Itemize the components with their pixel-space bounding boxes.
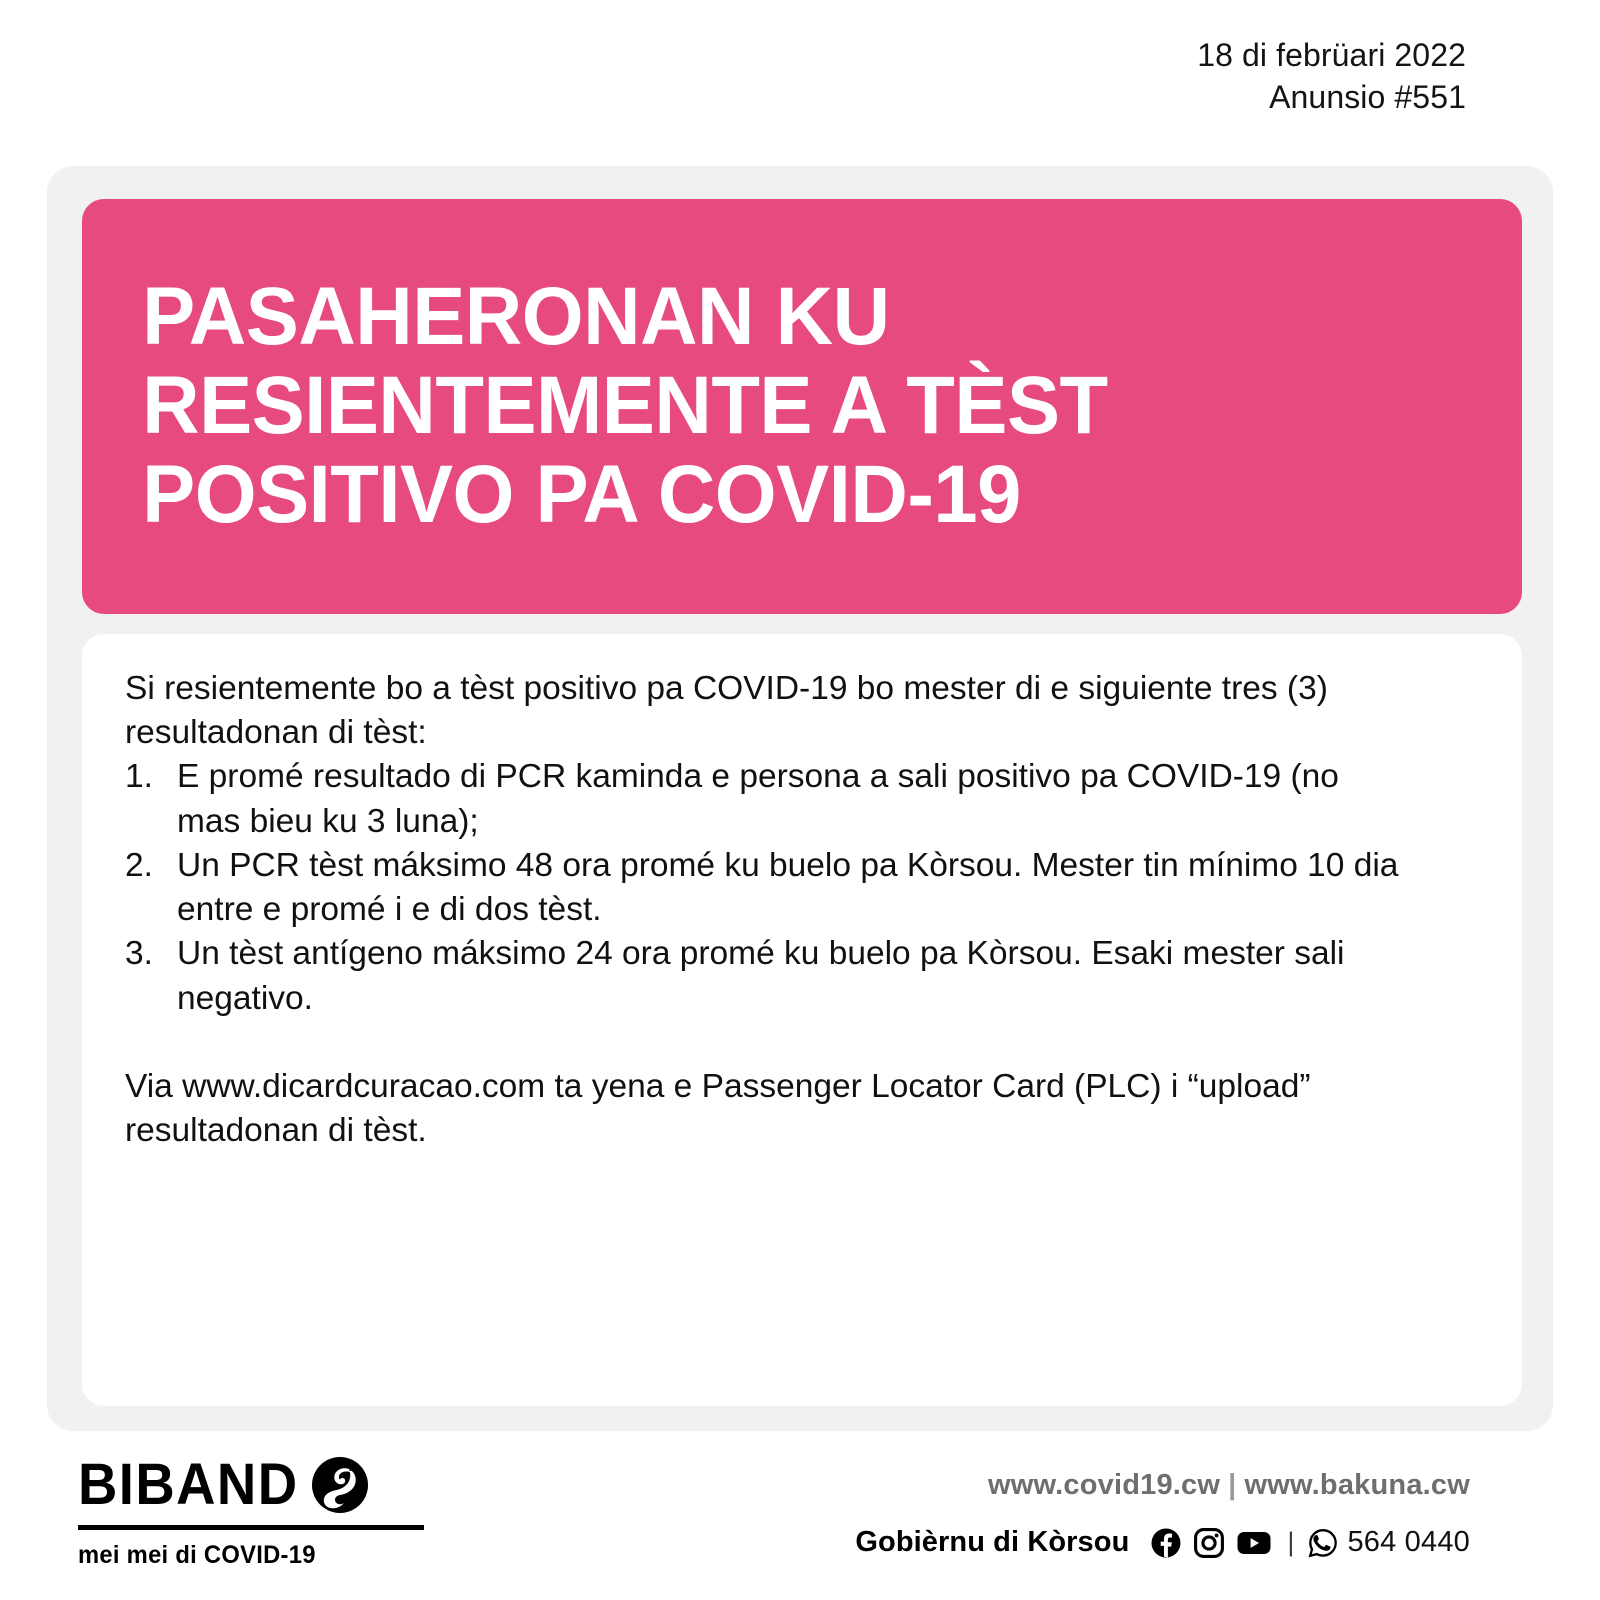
header-meta: 18 di febrüari 2022 Anunsio #551: [1197, 34, 1466, 118]
website-links-row: www.covid19.cw|www.bakuna.cw: [855, 1469, 1470, 1502]
bibando-swirl-icon: [311, 1456, 369, 1514]
closing-paragraph: Via www.dicardcuracao.com ta yena e Pass…: [125, 1065, 1425, 1153]
list-item-number: 3.: [125, 932, 177, 1020]
list-item-number: 2.: [125, 844, 177, 932]
content-panel: Si resientemente bo a tèst positivo pa C…: [82, 634, 1522, 1406]
whatsapp-contact[interactable]: 564 0440: [1308, 1526, 1470, 1559]
social-icons-group: [1151, 1528, 1271, 1558]
list-item-text: Un PCR tèst máksimo 48 ora promé ku buel…: [177, 844, 1407, 932]
publication-date: 18 di febrüari 2022: [1197, 34, 1466, 76]
whatsapp-icon[interactable]: [1308, 1528, 1338, 1558]
logo-divider: [78, 1525, 424, 1530]
page-title: Pasaheronan ku resientemente a tèst posi…: [82, 273, 1479, 540]
list-item: 2. Un PCR tèst máksimo 48 ora promé ku b…: [125, 844, 1472, 932]
youtube-icon[interactable]: [1237, 1530, 1271, 1556]
bibando-logo: BIBAND mei mei di COVID-19: [78, 1455, 458, 1570]
logo-wordmark-row: BIBAND: [78, 1455, 458, 1515]
announcement-number: Anunsio #551: [1197, 76, 1466, 118]
site-separator: |: [1220, 1469, 1244, 1501]
intro-paragraph: Si resientemente bo a tèst positivo pa C…: [125, 667, 1425, 755]
page-footer: BIBAND mei mei di COVID-19 www.covid19.c…: [0, 1455, 1600, 1600]
instagram-icon[interactable]: [1194, 1528, 1224, 1558]
footer-separator: |: [1287, 1527, 1294, 1558]
footer-links-block: www.covid19.cw|www.bakuna.cw Gobièrnu di…: [855, 1469, 1470, 1559]
list-item-text: E promé resultado di PCR kaminda e perso…: [177, 755, 1407, 843]
list-item: 1. E promé resultado di PCR kaminda e pe…: [125, 755, 1472, 843]
covid19-site-link[interactable]: www.covid19.cw: [988, 1469, 1220, 1501]
list-item: 3. Un tèst antígeno máksimo 24 ora promé…: [125, 932, 1472, 1020]
bakuna-site-link[interactable]: www.bakuna.cw: [1244, 1469, 1470, 1501]
government-name: Gobièrnu di Kòrsou: [855, 1526, 1129, 1559]
facebook-icon[interactable]: [1151, 1528, 1181, 1558]
paragraph-spacer: [125, 1021, 1472, 1065]
logo-wordmark: BIBAND: [78, 1456, 298, 1514]
list-item-text: Un tèst antígeno máksimo 24 ora promé ku…: [177, 932, 1407, 1020]
phone-number: 564 0440: [1347, 1526, 1470, 1559]
requirements-list: 1. E promé resultado di PCR kaminda e pe…: [125, 755, 1472, 1020]
list-item-number: 1.: [125, 755, 177, 843]
logo-subtitle: mei mei di COVID-19: [78, 1541, 439, 1570]
government-row: Gobièrnu di Kòrsou: [855, 1526, 1470, 1559]
title-banner: Pasaheronan ku resientemente a tèst posi…: [82, 199, 1522, 614]
